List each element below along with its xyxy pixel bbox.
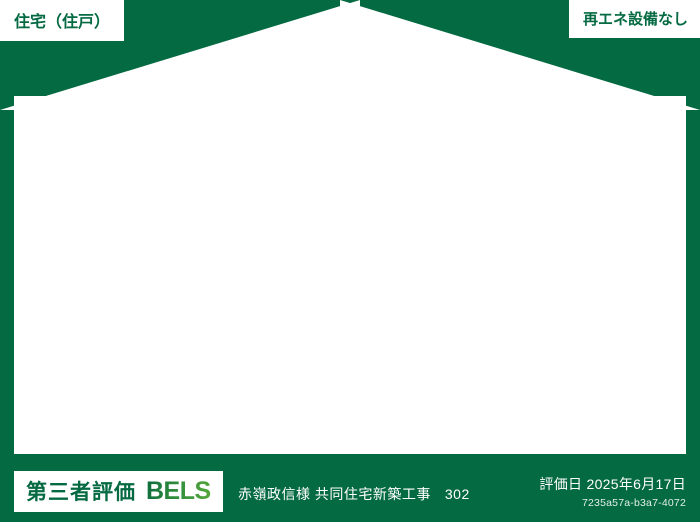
evaluation-id: 7235a57a-b3a7-4072 — [539, 497, 686, 509]
bels-label: 住宅（住戸） 再エネ設備なし 建築物省エネ法に基づく 省エネ性能ラベル エネルギ… — [0, 0, 700, 522]
unit-number: 302 — [445, 486, 470, 502]
evaluation-info: 評価日 2025年6月17日 7235a57a-b3a7-4072 — [539, 474, 686, 509]
footer: 第三者評価 BELS 赤嶺政信様 共同住宅新築工事302 評価日 2025年6月… — [0, 462, 700, 522]
house-card — [14, 96, 686, 454]
evaluation-date: 評価日 2025年6月17日 — [539, 474, 686, 494]
building-type-tag: 住宅（住戸） — [0, 0, 124, 41]
bels-jp-text: 第三者評価 — [26, 476, 136, 506]
renewable-energy-tag: 再エネ設備なし — [569, 0, 700, 38]
bels-en-text: BELS — [146, 477, 211, 506]
bels-logo: 第三者評価 BELS — [14, 471, 223, 512]
owner-name: 赤嶺政信様 共同住宅新築工事 — [238, 486, 431, 502]
owner-info: 赤嶺政信様 共同住宅新築工事302 — [238, 484, 470, 504]
